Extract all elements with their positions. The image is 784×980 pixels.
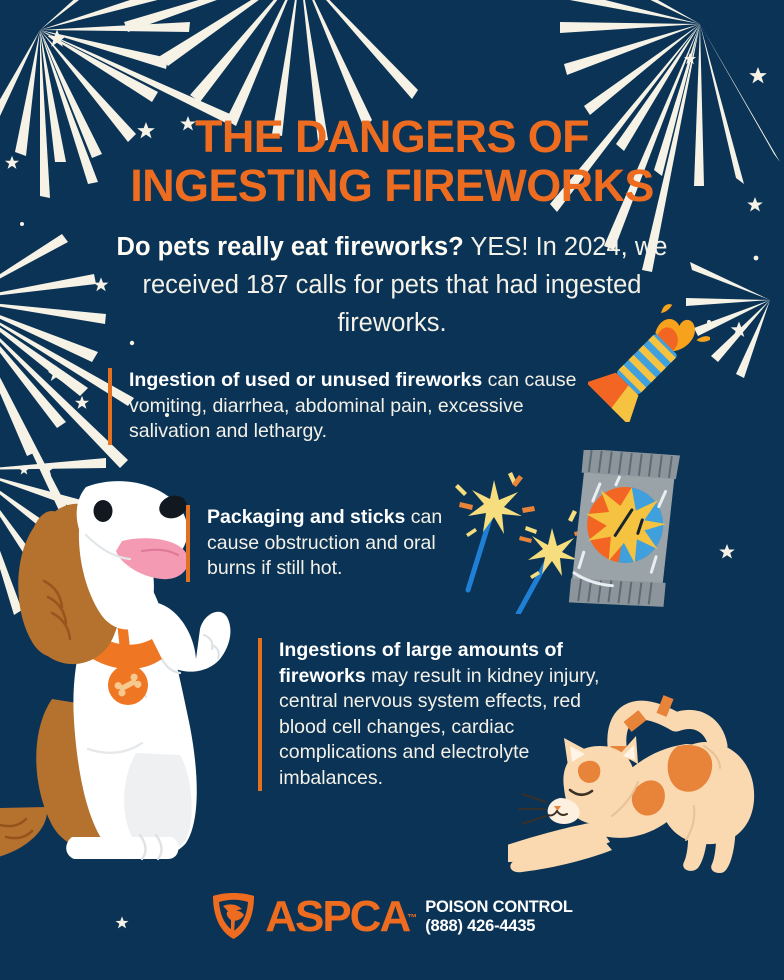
aspca-wordmark-text: ASPCA [265,892,409,941]
aspca-shield-dog-icon [211,893,256,940]
bullet-large-amounts: Ingestions of large amounts of fireworks… [258,638,622,791]
poster-canvas: THE DANGERS OF INGESTING FIREWORKS Do pe… [0,0,784,980]
bullet-ingestion-symptoms: Ingestion of used or unused fireworks ca… [108,368,592,445]
footer-logo-lockup: ASPCA™ POISON CONTROL (888) 426-4435 [0,893,784,940]
poison-control-label: POISON CONTROL [425,898,573,917]
deck-lead: Do pets really eat fireworks? [117,233,464,261]
bullet-packaging-sticks: Packaging and sticks can cause obstructi… [186,505,486,582]
page-title-line2: INGESTING FIREWORKS [0,161,784,210]
bullet-1-lead: Ingestion of used or unused fireworks [129,369,482,391]
poison-control-block: POISON CONTROL (888) 426-4435 [425,898,573,936]
page-title: THE DANGERS OF INGESTING FIREWORKS [0,112,784,210]
page-title-line1: THE DANGERS OF [0,112,784,161]
poison-control-phone[interactable]: (888) 426-4435 [425,917,573,936]
trademark-symbol: ™ [407,897,417,941]
deck-text: Do pets really eat fireworks? YES! In 20… [112,228,672,342]
bullet-2-lead: Packaging and sticks [207,506,405,528]
aspca-wordmark: ASPCA™ [265,895,409,939]
